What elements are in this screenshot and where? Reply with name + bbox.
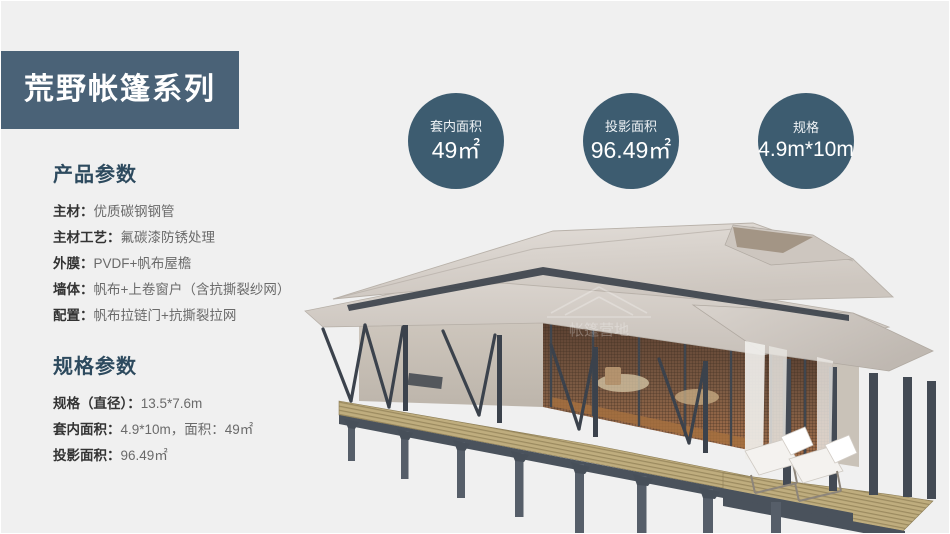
spec-label: 外膜： <box>53 256 94 271</box>
stat-value: 96.49㎡ <box>591 138 672 162</box>
stat-circle-dimensions: 规格 4.9m*10m <box>758 93 854 189</box>
spec-label: 投影面积： <box>53 448 121 463</box>
page-title: 荒野帐篷系列 <box>24 75 216 105</box>
stat-label: 套内面积 <box>430 120 482 134</box>
section-heading-product: 产品参数 <box>53 163 353 187</box>
spec-label: 规格（直径）： <box>53 396 141 411</box>
spec-label: 主材工艺： <box>53 230 121 245</box>
spec-value: 4.9*10m，面积：49㎡ <box>121 422 254 437</box>
tent-illustration <box>293 201 950 534</box>
spec-value: 优质碳钢钢管 <box>94 204 175 219</box>
slide-root: 荒野帐篷系列 产品参数 主材：优质碳钢钢管 主材工艺：氟碳漆防锈处理 外膜：PV… <box>0 0 950 534</box>
spec-label: 套内面积： <box>53 422 121 437</box>
stat-value: 49㎡ <box>432 138 481 162</box>
stat-label: 投影面积 <box>605 120 657 134</box>
spec-value: 帆布+上卷窗户（含抗撕裂纱网） <box>94 282 291 297</box>
title-banner: 荒野帐篷系列 <box>1 51 239 129</box>
stat-label: 规格 <box>793 121 819 135</box>
spec-value: 氟碳漆防锈处理 <box>121 230 216 245</box>
spec-value: 帆布拉链门+抗撕裂拉网 <box>94 308 237 323</box>
stat-circle-projected-area: 投影面积 96.49㎡ <box>583 93 679 189</box>
spec-label: 主材： <box>53 204 94 219</box>
product-render-image <box>293 201 950 534</box>
spec-value: 13.5*7.6m <box>141 396 203 411</box>
stat-circle-indoor-area: 套内面积 49㎡ <box>408 93 504 189</box>
spec-value: PVDF+帆布屋檐 <box>94 256 192 271</box>
spec-label: 墙体： <box>53 282 94 297</box>
spec-label: 配置： <box>53 308 94 323</box>
stat-value: 4.9m*10m <box>758 139 854 161</box>
spec-value: 96.49㎡ <box>121 448 168 463</box>
